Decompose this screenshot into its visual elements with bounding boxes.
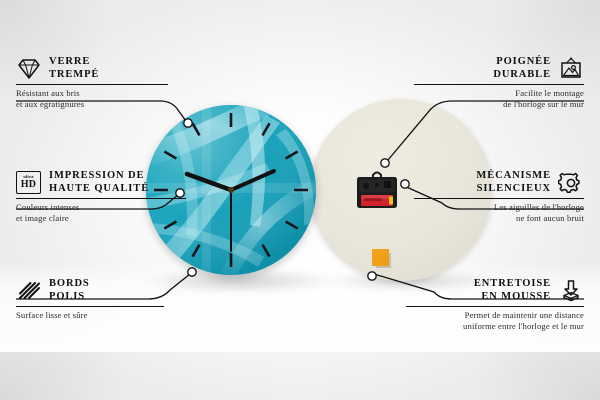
feature-title-line1: ENTRETOISE [474, 278, 551, 291]
feature-title-line1: MÉCANISME [476, 170, 551, 183]
feature-divider [16, 306, 164, 307]
feature-title-line2: SILENCIEUX [476, 183, 551, 196]
feature-desc-line1: Surface lisse et sûre [16, 310, 194, 321]
feature-description: Résistant aux bris et aux égratignures [16, 88, 194, 109]
feature-title-line1: VERRE [49, 56, 99, 69]
foam-spacer-sample [372, 249, 389, 266]
feature-desc-line2: de l'horloge sur le mur [406, 99, 584, 110]
diamond-icon [16, 57, 42, 81]
feature-desc-line1: Facilite le montage [406, 88, 584, 99]
feature-description: Les aiguilles de l'horloge ne font aucun… [406, 202, 584, 223]
feature-verre-trempe: VERRE TREMPÉ Résistant aux bris et aux é… [16, 56, 194, 109]
feature-impression-haute-qualite: ultra HD IMPRESSION DE HAUTE QUALITÉ Cou… [16, 170, 194, 223]
feature-divider [414, 84, 584, 85]
feature-poignee-durable: POIGNÉE DURABLE Facilite le montage de l… [406, 56, 584, 109]
picture-frame-hanger-icon [558, 57, 584, 81]
feature-desc-line1: Résistant aux bris [16, 88, 194, 99]
feature-desc-line2: uniforme entre l'horloge et le mur [406, 321, 584, 332]
feature-title-line1: BORDS [49, 278, 90, 291]
feature-divider [16, 84, 168, 85]
feature-divider [406, 306, 584, 307]
gear-icon [558, 171, 584, 195]
feature-divider [414, 198, 584, 199]
feature-desc-line1: Les aiguilles de l'horloge [406, 202, 584, 213]
feature-entretoise-en-mousse: ENTRETOISE EN MOUSSE Permet de maintenir… [406, 278, 584, 331]
feature-desc-line2: ne font aucun bruit [406, 213, 584, 224]
ultra-hd-large-text: HD [21, 180, 37, 190]
feature-title-line2: HAUTE QUALITÉ [49, 183, 149, 196]
feature-title-line1: IMPRESSION DE [49, 170, 149, 183]
ultra-hd-icon: ultra HD [16, 171, 42, 195]
spacer-layers-icon [558, 279, 584, 303]
feature-desc-line2: et image claire [16, 213, 194, 224]
feature-desc-line1: Permet de maintenir une distance [406, 310, 584, 321]
feature-title-line2: POLIS [49, 291, 90, 304]
feature-description: Facilite le montage de l'horloge sur le … [406, 88, 584, 109]
feature-description: Surface lisse et sûre [16, 310, 194, 321]
feature-bords-polis: BORDS POLIS Surface lisse et sûre [16, 278, 194, 321]
clock-center-cap [228, 187, 234, 193]
feature-divider [16, 198, 186, 199]
feature-description: Permet de maintenir une distance uniform… [406, 310, 584, 331]
feature-title-line2: TREMPÉ [49, 69, 99, 82]
feature-title-line1: POIGNÉE [493, 56, 551, 69]
feature-description: Couleurs intenses et image claire [16, 202, 194, 223]
feature-desc-line1: Couleurs intenses [16, 202, 194, 213]
feature-title-line2: DURABLE [493, 69, 551, 82]
feature-mecanisme-silencieux: MÉCANISME SILENCIEUX Les aiguilles de l'… [406, 170, 584, 223]
clock-mechanism-icon [356, 170, 398, 210]
polished-edge-icon [16, 279, 42, 303]
minute-hand [231, 171, 274, 190]
feature-desc-line2: et aux égratignures [16, 99, 194, 110]
feature-title-line2: EN MOUSSE [474, 291, 551, 304]
